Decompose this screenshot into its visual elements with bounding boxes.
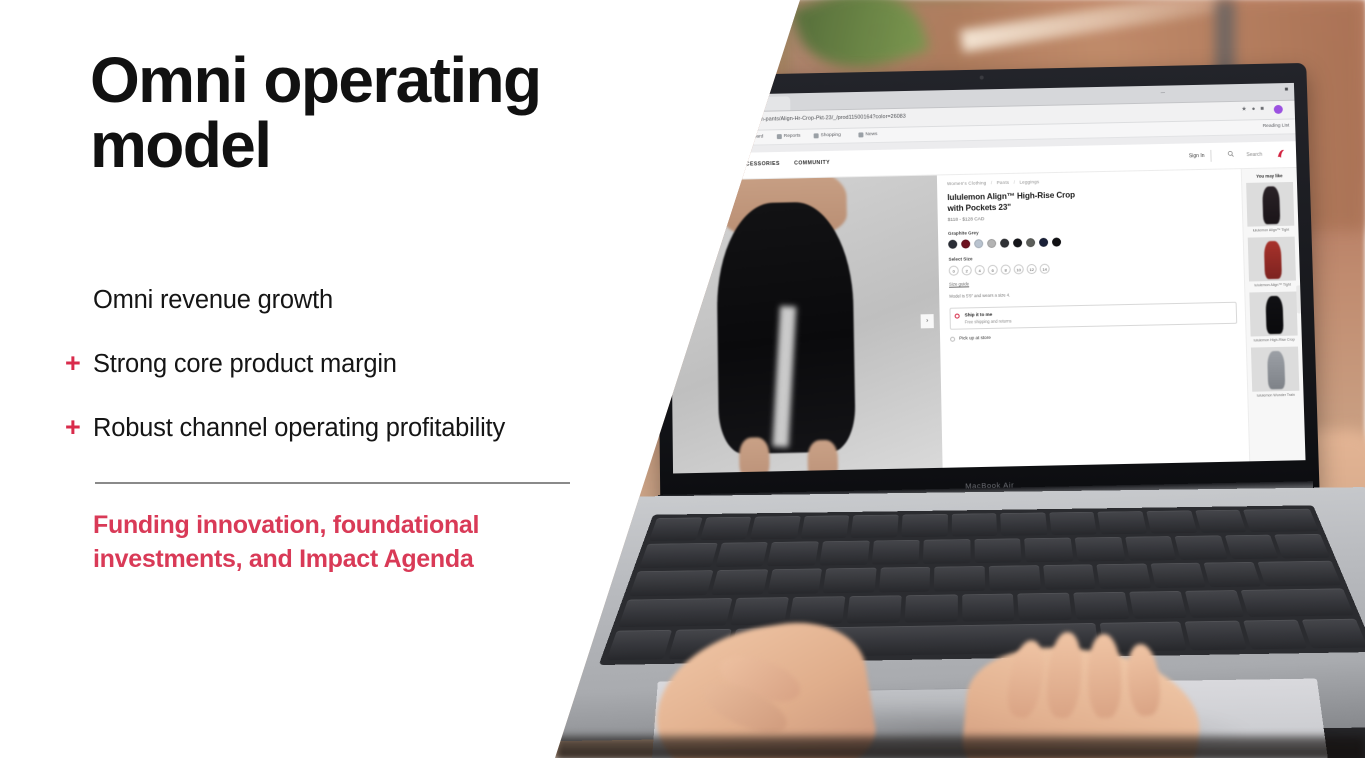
search-input[interactable]: Search: [1246, 151, 1262, 157]
bullet-marker: +: [60, 350, 93, 377]
laptop-keyboard[interactable]: [599, 505, 1365, 665]
product-title: lululemon Align™ High-Rise Crop with Poc…: [947, 190, 1087, 214]
size-option[interactable]: 2: [962, 265, 972, 275]
lululemon-site: WOMEN MEN ACCESSORIES COMMUNITY Sign In …: [669, 141, 1305, 473]
nav-link-women[interactable]: WOMEN: [680, 162, 703, 168]
rail-caption: lululemon Align™ Tight: [1247, 228, 1294, 234]
model-note: Model is 5'9" and wears a size 4.: [949, 288, 1236, 299]
list-item: + Robust channel operating profitability: [60, 414, 600, 478]
feedback-tab[interactable]: [1296, 285, 1302, 313]
reading-list-button[interactable]: Reading List: [1263, 123, 1290, 128]
bookmark-item[interactable]: Dashboard: [740, 134, 763, 139]
inactive-tab[interactable]: [764, 96, 790, 110]
model-calf-right: [807, 440, 838, 474]
color-swatch[interactable]: [1026, 238, 1035, 247]
list-item: Omni revenue growth: [60, 286, 600, 350]
color-swatch[interactable]: [974, 239, 983, 248]
rail-thumbnail: [1248, 236, 1296, 281]
close-icon[interactable]: ✕: [736, 101, 740, 112]
carousel-prev-button[interactable]: ‹: [677, 319, 690, 333]
size-option[interactable]: 8: [1001, 264, 1011, 274]
page-title: Omni operating model: [90, 48, 610, 179]
bookmark-item[interactable]: Shopping: [821, 132, 841, 137]
list-item: + Strong core product margin: [60, 350, 600, 414]
size-option[interactable]: 4: [975, 265, 985, 275]
model-calf-left: [739, 437, 770, 473]
size-selector[interactable]: 0 2 4 6 8 10 12 14: [949, 260, 1236, 276]
rail-item[interactable]: lululemon High-Rise Crop: [1249, 291, 1298, 343]
color-swatch[interactable]: [948, 240, 957, 249]
size-guide-link[interactable]: Size guide: [949, 276, 1236, 287]
carousel-next-button[interactable]: ›: [921, 314, 934, 328]
color-label: Graphite Grey: [948, 225, 1235, 236]
window-minimize-icon[interactable]: ─: [1161, 91, 1165, 97]
breadcrumb-item[interactable]: Pants: [997, 180, 1010, 185]
list-item-label: Strong core product margin: [93, 350, 397, 378]
size-option[interactable]: 0: [949, 266, 959, 276]
bookmark-item[interactable]: Reports: [784, 133, 801, 138]
bookmark-item[interactable]: Work: [709, 135, 720, 140]
rail-thumbnail: [1251, 346, 1299, 391]
color-swatch[interactable]: [961, 239, 970, 248]
nav-link-accessories[interactable]: ACCESSORIES: [737, 161, 780, 168]
color-swatch[interactable]: [1052, 238, 1061, 247]
bullet-marker: +: [60, 414, 93, 441]
ship-option-card[interactable]: Ship it to me Free shipping and returns: [949, 302, 1237, 330]
webcam-icon: [979, 76, 983, 80]
size-option[interactable]: 10: [1014, 264, 1024, 274]
browser-tab[interactable]: lululemon Align ✕: [674, 97, 746, 112]
rail-item[interactable]: lululemon Wunder Train: [1251, 346, 1300, 398]
size-option[interactable]: 14: [1040, 264, 1050, 274]
new-tab-button[interactable]: +: [751, 98, 755, 105]
url-input[interactable]: https://shop.lululemon.com/p/women-pants…: [675, 113, 906, 124]
laptop-screen: lululemon Align ✕ + ─ ■ https://shop.lul…: [669, 83, 1306, 474]
lululemon-logo-icon[interactable]: [1275, 147, 1288, 160]
bookmark-item[interactable]: Apps: [680, 135, 691, 140]
bookmark-item[interactable]: News: [865, 132, 877, 137]
browser-toolbar-icons[interactable]: ★●■: [1241, 105, 1269, 112]
color-swatch[interactable]: [1039, 238, 1048, 247]
pickup-option-label: Pick up at store: [959, 330, 1237, 341]
rail-title: You may like: [1246, 173, 1293, 179]
product-price: $118 - $128 CAD: [948, 212, 1234, 223]
nav-divider: [1210, 150, 1211, 162]
browser-tab-title: lululemon Align: [679, 101, 713, 108]
color-swatches[interactable]: [948, 237, 1068, 248]
nav-link-community[interactable]: COMMUNITY: [794, 160, 830, 167]
photo-bottom-shadow: [555, 736, 1365, 758]
color-swatch[interactable]: [1000, 239, 1009, 248]
section-divider: [95, 482, 570, 484]
search-icon[interactable]: [1227, 150, 1234, 157]
breadcrumb: Women's Clothing / Pants / Leggings: [947, 175, 1233, 186]
breadcrumb-item[interactable]: Women's Clothing: [947, 180, 986, 186]
profile-avatar[interactable]: [1274, 105, 1283, 114]
bullet-list: Omni revenue growth + Strong core produc…: [60, 286, 600, 478]
laptop-lid: MacBook Air lululemon Align ✕ + ─ ■: [656, 63, 1320, 506]
nav-link-men[interactable]: MEN: [713, 162, 726, 168]
pickup-option-row[interactable]: Pick up at store: [950, 330, 1238, 341]
rail-thumbnail: [1249, 291, 1297, 336]
size-option[interactable]: 6: [988, 265, 998, 275]
color-swatch[interactable]: [987, 239, 996, 248]
product-details: Women's Clothing / Pants / Leggings lulu…: [937, 169, 1249, 468]
rail-caption: lululemon Align™ Tight: [1249, 282, 1296, 288]
presentation-slide: MacBook Air lululemon Align ✕ + ─ ■: [0, 0, 1365, 758]
rail-thumbnail: [1246, 182, 1294, 227]
list-item-label: Omni revenue growth: [93, 286, 333, 314]
rail-caption: lululemon Wunder Train: [1252, 392, 1299, 398]
radio-unselected-icon[interactable]: [950, 336, 955, 341]
breadcrumb-item[interactable]: Leggings: [1019, 179, 1039, 184]
rail-item[interactable]: lululemon Align™ Tight: [1246, 182, 1294, 234]
slide-text-panel: Omni operating model Omni revenue growth…: [0, 0, 620, 758]
radio-selected-icon[interactable]: [955, 314, 960, 319]
product-page: ‹ › Women's Clothing / Pants /: [670, 168, 1306, 474]
window-close-icon[interactable]: ■: [1284, 87, 1288, 93]
list-item-label: Robust channel operating profitability: [93, 414, 505, 442]
product-gallery: ‹ ›: [670, 175, 943, 473]
size-option[interactable]: 12: [1027, 264, 1037, 274]
sign-in-link[interactable]: Sign In: [1189, 153, 1205, 159]
rail-item[interactable]: lululemon Align™ Tight: [1248, 236, 1296, 288]
footnote-text: Funding innovation, foundational investm…: [93, 508, 563, 576]
rail-caption: lululemon High-Rise Crop: [1251, 337, 1298, 343]
color-swatch[interactable]: [1013, 238, 1022, 247]
recommendations-rail: You may like lululemon Align™ Tight: [1241, 168, 1306, 461]
